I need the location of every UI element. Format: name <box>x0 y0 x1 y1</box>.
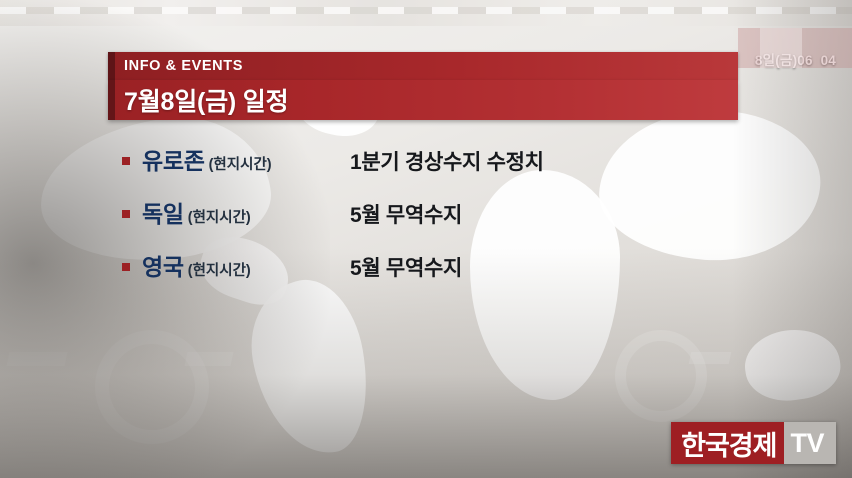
event-description: 1분기 경상수지 수정치 <box>350 146 544 176</box>
event-region-cell: 독일(현지시간) <box>142 195 350 229</box>
channel-logo-suffix: TV <box>784 422 836 464</box>
panel-kicker-label: INFO & EVENTS <box>115 58 243 74</box>
bullet-square-icon <box>122 210 130 218</box>
event-region-note: (현지시간) <box>188 210 251 226</box>
event-region-name: 영국 <box>142 254 184 280</box>
event-region-name: 독일 <box>142 201 184 227</box>
title-bar-tail-block-3 <box>802 28 852 68</box>
panel-title: 7월8일(금) 일정 <box>115 82 288 118</box>
events-list: 유로존(현지시간) 1분기 경상수지 수정치 독일(현지시간) 5월 무역수지 … <box>108 120 738 282</box>
event-region-note: (현지시간) <box>209 157 272 173</box>
panel-kicker-bar: INFO & EVENTS <box>108 52 738 80</box>
event-region-note: (현지시간) <box>188 263 251 279</box>
channel-logo: 한국경제 TV <box>671 422 836 464</box>
kicker-accent-block <box>108 52 115 80</box>
event-region-cell: 유로존(현지시간) <box>142 142 350 176</box>
title-bar-tail-block-2 <box>760 28 802 68</box>
panel-title-bar: 7월8일(금) 일정 <box>108 80 738 120</box>
event-description: 5월 무역수지 <box>350 252 462 282</box>
title-bar-tail-block-1 <box>738 28 760 68</box>
info-events-panel: INFO & EVENTS 7월8일(금) 일정 유로존(현지시간) 1분기 경… <box>108 52 738 301</box>
list-item: 유로존(현지시간) 1분기 경상수지 수정치 <box>122 142 738 176</box>
event-region-cell: 영국(현지시간) <box>142 248 350 282</box>
list-item: 독일(현지시간) 5월 무역수지 <box>122 195 738 229</box>
bullet-square-icon <box>122 157 130 165</box>
title-accent-block <box>108 80 115 120</box>
vignette-right <box>732 0 852 478</box>
broadcast-screen: 8일(금)06 04 INFO & EVENTS 7월8일(금) 일정 유로존(… <box>0 0 852 478</box>
channel-logo-name: 한국경제 <box>671 422 784 464</box>
event-description: 5월 무역수지 <box>350 199 462 229</box>
event-region-name: 유로존 <box>142 148 205 174</box>
bullet-square-icon <box>122 263 130 271</box>
list-item: 영국(현지시간) 5월 무역수지 <box>122 248 738 282</box>
